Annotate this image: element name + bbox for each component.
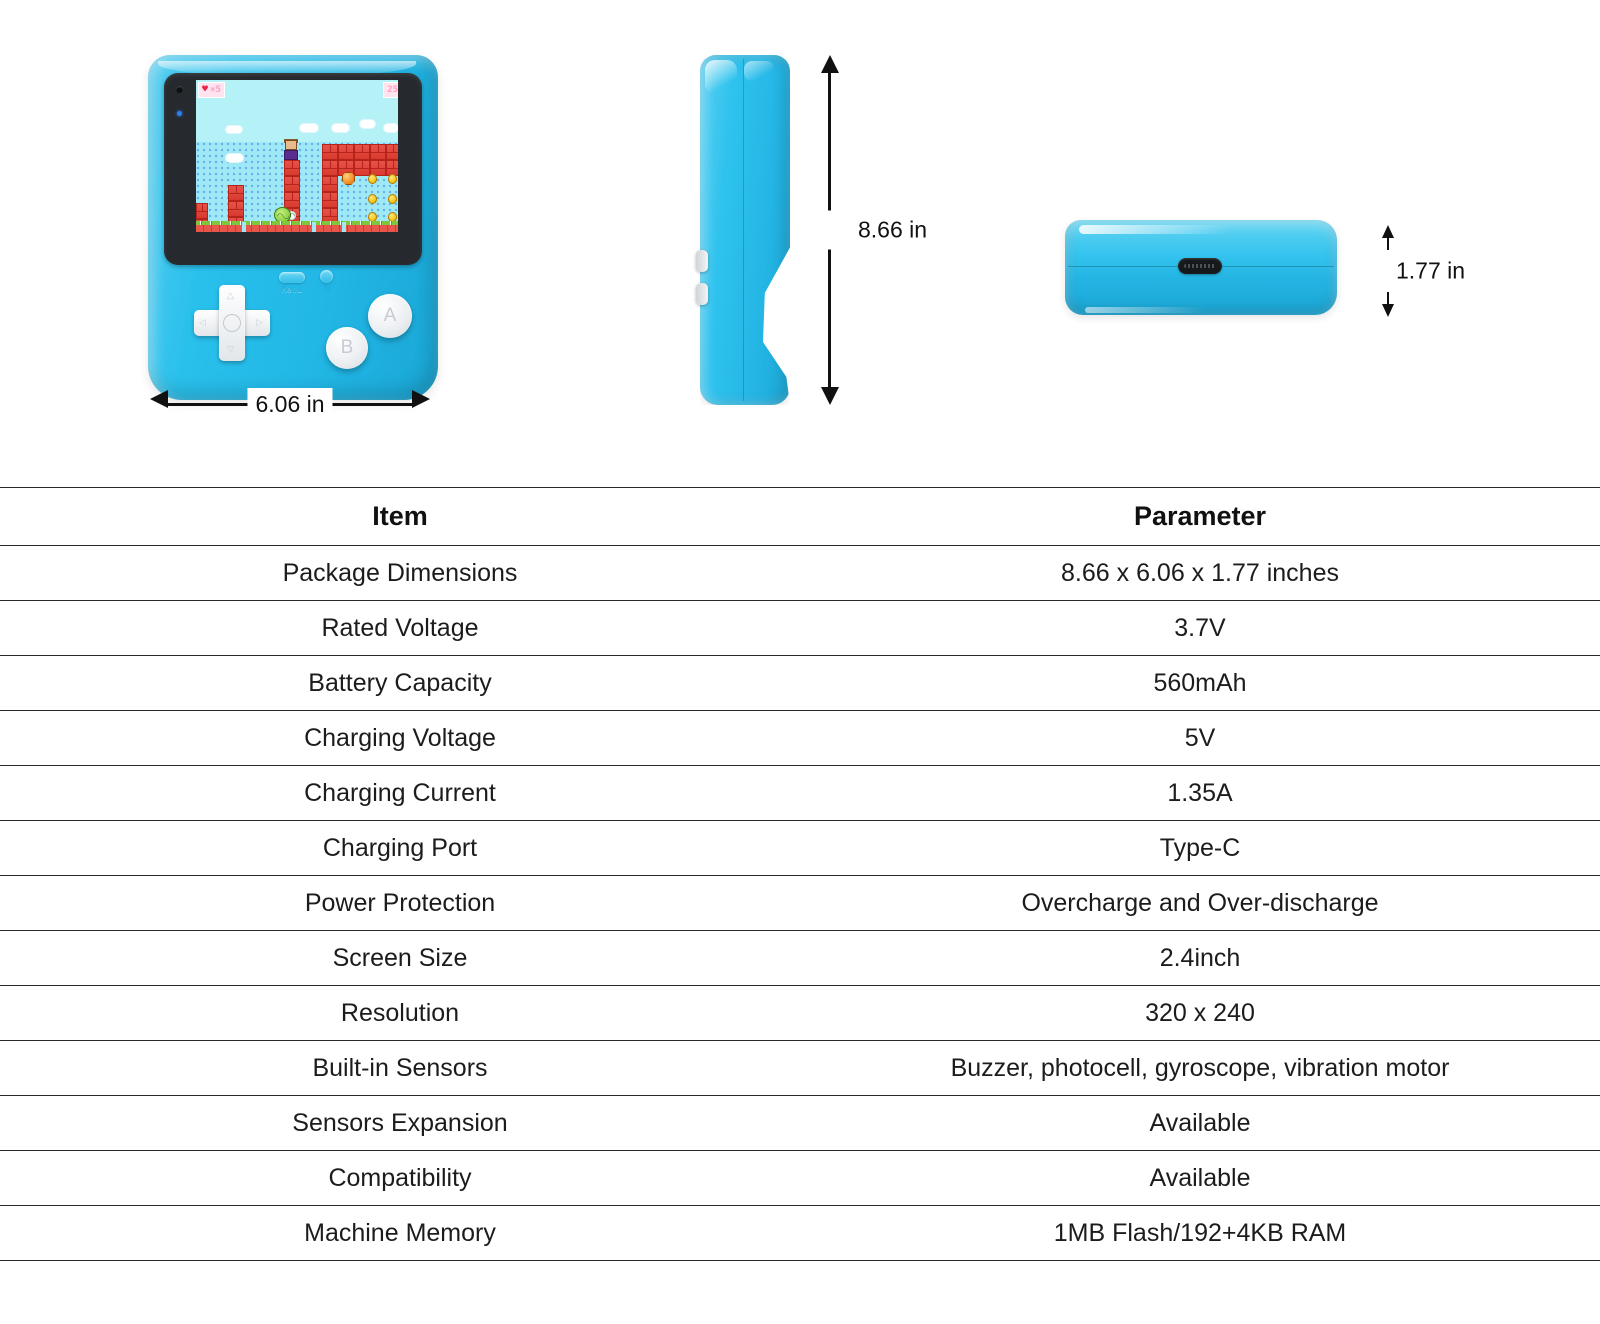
table-row: Screen Size2.4inch (0, 931, 1600, 986)
brick-block (354, 144, 370, 160)
table-header-row: Item Parameter (0, 488, 1600, 546)
console-side-view (700, 55, 790, 405)
spec-item-cell: Built-in Sensors (0, 1041, 800, 1096)
brick-block (228, 201, 244, 217)
spec-item-cell: Screen Size (0, 931, 800, 986)
table-row: Machine Memory1MB Flash/192+4KB RAM (0, 1206, 1600, 1261)
spec-parameter-cell: 320 x 240 (800, 986, 1600, 1041)
depth-arrow-bottom-head (1382, 304, 1394, 317)
dpad-left-icon[interactable]: ◁ (199, 318, 206, 327)
dpad-right-icon[interactable]: ▷ (256, 318, 263, 327)
player-character (284, 140, 298, 160)
hud-lives: ♥ ×5 (198, 82, 225, 98)
top-highlight-secondary (1085, 307, 1205, 313)
light-sensor-icon (176, 86, 183, 93)
table-row: Built-in SensorsBuzzer, photocell, gyros… (0, 1041, 1600, 1096)
table-row: Resolution320 x 240 (0, 986, 1600, 1041)
top-highlight (1079, 225, 1229, 234)
spec-parameter-cell: Type-C (800, 821, 1600, 876)
coin-icon (388, 174, 397, 184)
turtle-face: ◠◡◠ (277, 212, 286, 220)
brick-block (228, 185, 244, 201)
table-row: Sensors ExpansionAvailable (0, 1096, 1600, 1151)
spec-item-cell: Rated Voltage (0, 601, 800, 656)
ground-gap (242, 222, 246, 232)
spec-parameter-cell: Buzzer, photocell, gyroscope, vibration … (800, 1041, 1600, 1096)
console-top-edge-view (1065, 220, 1337, 320)
side-button-upper[interactable] (696, 250, 708, 272)
height-dimension: 8.66 in (820, 55, 840, 405)
button-a[interactable]: A (368, 294, 412, 338)
brick-block (322, 144, 338, 160)
usb-c-port-icon (1178, 258, 1222, 274)
width-dimension-label: 6.06 in (247, 388, 332, 420)
spec-item-cell: Battery Capacity (0, 656, 800, 711)
heart-icon: ♥ (202, 85, 208, 95)
spec-item-cell: Charging Current (0, 766, 800, 821)
console-front-view: ♥ ×5 25 (148, 55, 438, 400)
spec-item-cell: Machine Memory (0, 1206, 800, 1261)
spec-item-cell: Charging Voltage (0, 711, 800, 766)
dpad-center (223, 314, 241, 332)
brick-block (338, 144, 354, 160)
height-arrow-top-head (821, 55, 839, 73)
width-arrow-right-head (412, 390, 430, 408)
spec-parameter-cell: Available (800, 1096, 1600, 1151)
spec-parameter-cell: Available (800, 1151, 1600, 1206)
lives-count: ×5 (210, 85, 221, 95)
score-value: 25 (387, 85, 398, 95)
dpad-up-icon[interactable]: △ (227, 291, 234, 300)
spec-parameter-cell: 1MB Flash/192+4KB RAM (800, 1206, 1600, 1261)
depth-arrow-top-stem (1387, 236, 1389, 250)
table-body: Package Dimensions8.66 x 6.06 x 1.77 inc… (0, 546, 1600, 1261)
table-row: Power ProtectionOvercharge and Over-disc… (0, 876, 1600, 931)
dpad-down-icon[interactable]: ▽ (227, 345, 234, 354)
brick-block (322, 176, 338, 192)
player-head (285, 140, 297, 150)
brick-block (370, 144, 386, 160)
table-row: Charging Current1.35A (0, 766, 1600, 821)
game-screen: ♥ ×5 25 (196, 80, 398, 232)
spec-item-cell: Charging Port (0, 821, 800, 876)
cloud-icon (332, 124, 349, 132)
side-highlight (705, 60, 737, 94)
cloud-icon (226, 154, 243, 162)
table-row: Rated Voltage3.7V (0, 601, 1600, 656)
brick-block (322, 160, 338, 176)
spec-item-cell: Package Dimensions (0, 546, 800, 601)
height-arrow-bottom-head (821, 387, 839, 405)
brick-block (284, 176, 300, 192)
spec-item-cell: Sensors Expansion (0, 1096, 800, 1151)
cloud-icon (226, 126, 242, 133)
game-grass (196, 221, 398, 225)
hud-score: 25 (383, 82, 398, 98)
brick-block (386, 144, 398, 160)
spec-parameter-cell: 1.35A (800, 766, 1600, 821)
spec-parameter-cell: 2.4inch (800, 931, 1600, 986)
power-coin-icon (342, 172, 355, 185)
width-arrow-left-head (150, 390, 168, 408)
shell-seam (743, 59, 744, 401)
cloud-icon (360, 120, 375, 128)
cloud-icon (300, 124, 318, 132)
brick-block (322, 192, 338, 208)
table-row: Charging Voltage5V (0, 711, 1600, 766)
spec-parameter-cell: Overcharge and Over-discharge (800, 876, 1600, 931)
reset-icon: ↻ (318, 284, 336, 293)
spec-parameter-cell: 560mAh (800, 656, 1600, 711)
ground-gap (312, 222, 316, 232)
dpad[interactable]: △ ▽ ◁ ▷ (194, 285, 270, 361)
brick-block (196, 203, 208, 219)
menu-button[interactable] (279, 272, 305, 283)
specification-table: Item Parameter Package Dimensions8.66 x … (0, 487, 1600, 1261)
coin-icon (368, 194, 377, 204)
player-body (284, 150, 298, 160)
spec-item-cell: Power Protection (0, 876, 800, 931)
spec-item-cell: Resolution (0, 986, 800, 1041)
brick-block (354, 160, 370, 176)
product-dimension-diagram: ♥ ×5 25 (0, 0, 1600, 470)
table-row: Charging PortType-C (0, 821, 1600, 876)
ground-gap (342, 222, 346, 232)
cloud-icon (384, 124, 398, 132)
side-highlight-secondary (744, 61, 774, 81)
brick-block (284, 192, 300, 208)
table-row: Battery Capacity560mAh (0, 656, 1600, 711)
height-dimension-label: 8.66 in (798, 211, 927, 250)
spec-item-cell: Compatibility (0, 1151, 800, 1206)
column-header-parameter: Parameter (800, 488, 1600, 546)
depth-dimension: 1.77 in (1378, 225, 1400, 317)
depth-dimension-label: 1.77 in (1352, 254, 1465, 289)
table-row: Package Dimensions8.66 x 6.06 x 1.77 inc… (0, 546, 1600, 601)
coin-icon (368, 174, 377, 184)
table-row: CompatibilityAvailable (0, 1151, 1600, 1206)
side-button-lower[interactable] (696, 283, 708, 305)
console-side-shell (700, 55, 790, 405)
screen-bezel: ♥ ×5 25 (164, 73, 422, 265)
brick-block (284, 160, 300, 176)
column-header-item: Item (0, 488, 800, 546)
reset-button[interactable] (320, 270, 333, 283)
spec-parameter-cell: 5V (800, 711, 1600, 766)
spec-parameter-cell: 8.66 x 6.06 x 1.77 inches (800, 546, 1600, 601)
width-dimension: 6.06 in (150, 388, 430, 420)
spec-parameter-cell: 3.7V (800, 601, 1600, 656)
status-led-icon (177, 111, 182, 116)
menu-button-label: Menu (274, 285, 310, 294)
button-b[interactable]: B (326, 327, 368, 369)
coin-icon (388, 194, 397, 204)
